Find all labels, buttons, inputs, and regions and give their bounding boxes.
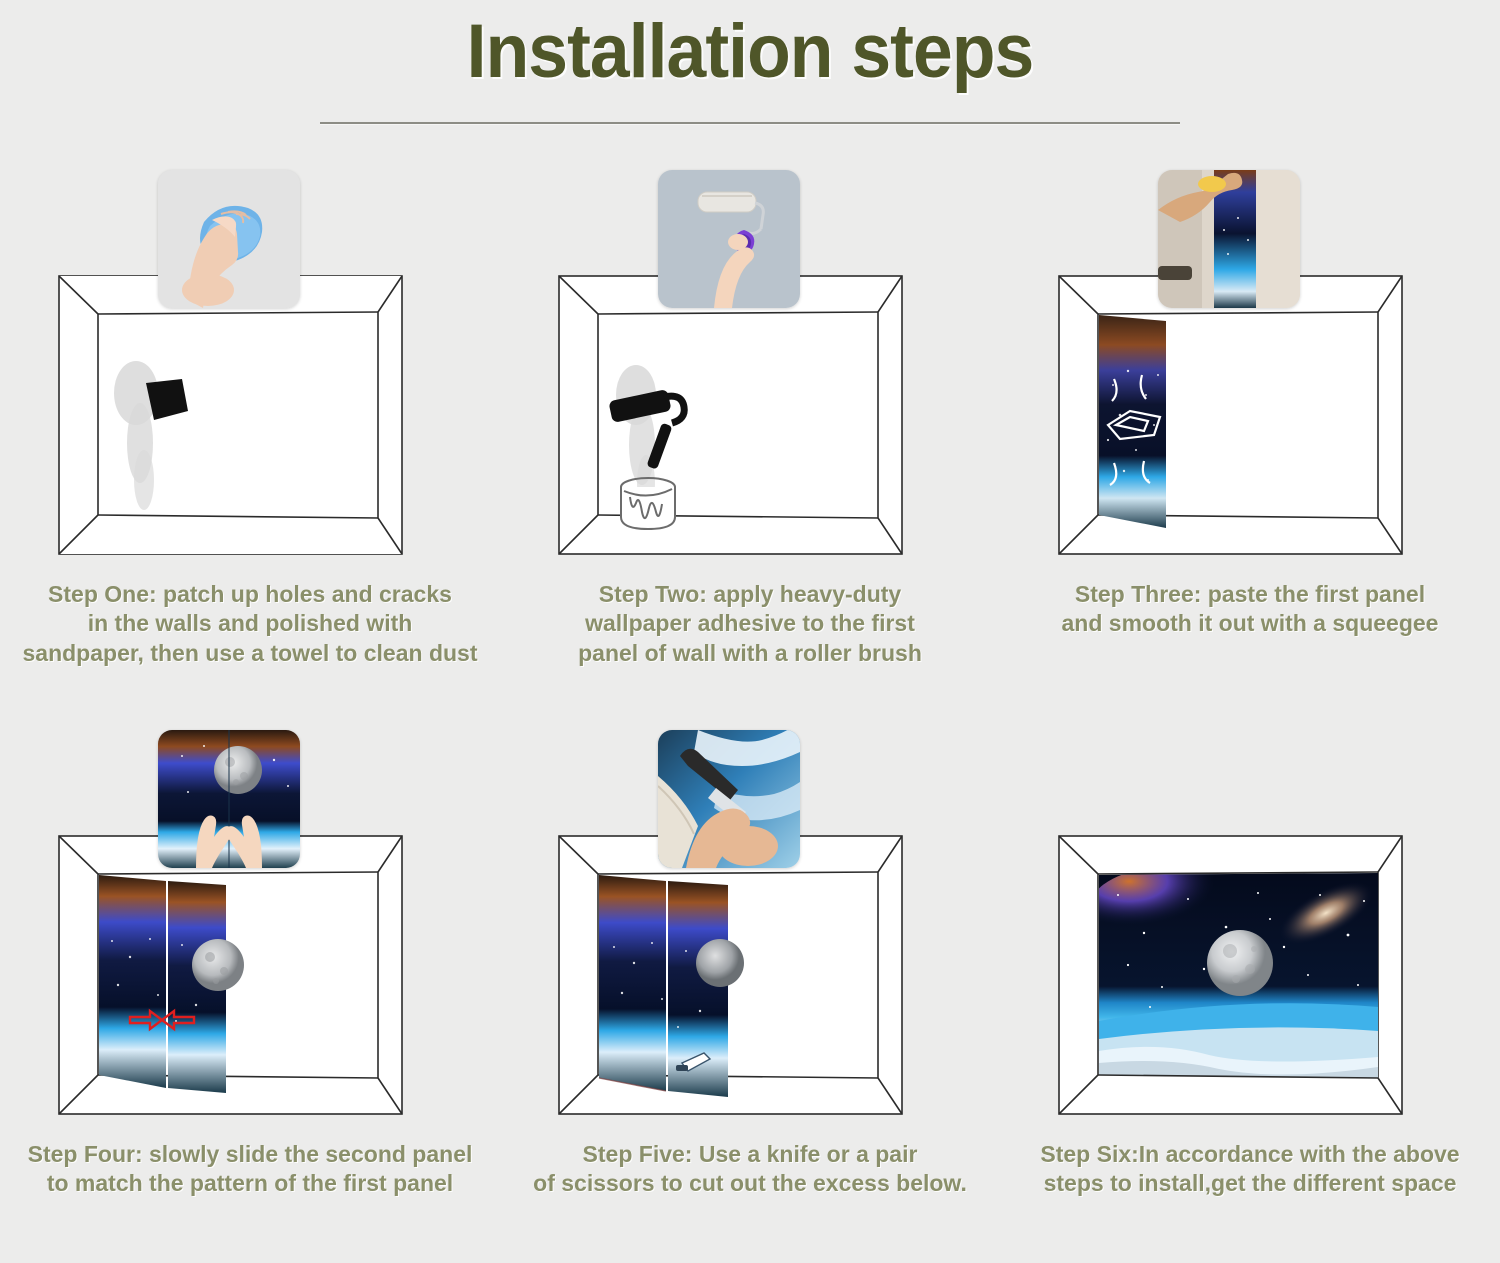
step-card-two: Step Two: apply heavy-duty wallpaper adh… xyxy=(500,140,1000,700)
step-card-one: Step One: patch up holes and cracks in t… xyxy=(0,140,500,700)
caption-line: Step Two: apply heavy-duty xyxy=(508,580,992,609)
room-illustration-six xyxy=(1058,835,1403,1115)
caption-line: of scissors to cut out the excess below. xyxy=(508,1169,992,1198)
step-caption-two: Step Two: apply heavy-duty wallpaper adh… xyxy=(508,580,992,668)
title-divider xyxy=(320,122,1180,124)
photo-inset-four xyxy=(158,730,300,868)
step-caption-one: Step One: patch up holes and cracks in t… xyxy=(8,580,492,668)
step-card-five: Step Five: Use a knife or a pair of scis… xyxy=(500,700,1000,1260)
caption-line: wallpaper adhesive to the first xyxy=(508,609,992,638)
caption-line: Step Three: paste the first panel xyxy=(1008,580,1492,609)
page-title: Installation steps xyxy=(45,8,1455,95)
finished-mural xyxy=(1090,867,1382,1079)
caption-line: panel of wall with a roller brush xyxy=(508,639,992,668)
caption-line: and smooth it out with a squeegee xyxy=(1008,609,1492,638)
photo-inset-two xyxy=(658,170,800,308)
room-illustration-four xyxy=(58,835,403,1115)
room-illustration-one xyxy=(58,275,403,555)
caption-line: to match the pattern of the first panel xyxy=(8,1169,492,1198)
step-caption-three: Step Three: paste the first panel and sm… xyxy=(1008,580,1492,639)
photo-inset-three xyxy=(1158,170,1300,308)
photo-inset-one xyxy=(158,170,300,308)
step-card-four: Step Four: slowly slide the second panel… xyxy=(0,700,500,1260)
wallpaper-panel-first xyxy=(99,875,166,1088)
step-caption-six: Step Six:In accordance with the above st… xyxy=(1008,1140,1492,1199)
page-header: Installation steps xyxy=(0,0,1500,140)
caption-line: Step Six:In accordance with the above xyxy=(1008,1140,1492,1169)
step-card-six: Step Six:In accordance with the above st… xyxy=(1000,700,1500,1260)
caption-line: Step Four: slowly slide the second panel xyxy=(8,1140,492,1169)
room-illustration-five xyxy=(558,835,903,1115)
room-illustration-three xyxy=(1058,275,1403,555)
room-illustration-two xyxy=(558,275,903,555)
caption-line: Step Five: Use a knife or a pair xyxy=(508,1140,992,1169)
step-caption-five: Step Five: Use a knife or a pair of scis… xyxy=(508,1140,992,1199)
caption-line: sandpaper, then use a towel to clean dus… xyxy=(8,639,492,668)
wallpaper-panel-first xyxy=(1099,315,1166,528)
step-caption-four: Step Four: slowly slide the second panel… xyxy=(8,1140,492,1199)
photo-inset-five xyxy=(658,730,800,868)
caption-line: in the walls and polished with xyxy=(8,609,492,638)
step-card-three: Step Three: paste the first panel and sm… xyxy=(1000,140,1500,700)
caption-line: steps to install,get the different space xyxy=(1008,1169,1492,1198)
caption-line: Step One: patch up holes and cracks xyxy=(8,580,492,609)
steps-grid: Step One: patch up holes and cracks in t… xyxy=(0,140,1500,1263)
